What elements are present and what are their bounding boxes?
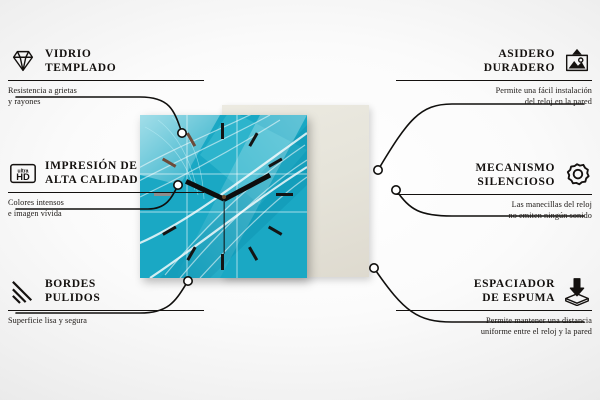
polished-edges-icon xyxy=(8,276,38,306)
callout-dot-vidrio xyxy=(178,129,186,137)
feature-mecanismo-silencioso: MECANISMO SILENCIOSO Las manecillas del … xyxy=(396,160,592,221)
callout-dot-espaciador xyxy=(370,264,378,272)
feature-description: Las manecillas del reloj no emiten ningú… xyxy=(396,199,592,221)
feature-asidero-duradero: ASIDERO DURADERO Permite una fácil insta… xyxy=(396,46,592,107)
feature-espaciador-de-espuma: ESPACIADOR DE ESPUMA Permite mantener un… xyxy=(396,276,592,337)
gear-icon xyxy=(562,160,592,190)
feature-title: ESPACIADOR DE ESPUMA xyxy=(474,277,555,305)
callout-dot-asidero xyxy=(374,166,382,174)
divider xyxy=(396,310,592,311)
feature-impresion-alta-calidad: ultra HD IMPRESIÓN DE ALTA CALIDAD Color… xyxy=(8,158,204,219)
feature-title: VIDRIO TEMPLADO xyxy=(45,47,116,75)
feature-header: ESPACIADOR DE ESPUMA xyxy=(396,276,592,306)
feature-header: MECANISMO SILENCIOSO xyxy=(396,160,592,190)
feature-description: Permite una fácil instalación del reloj … xyxy=(396,85,592,107)
feature-bordes-pulidos: BORDES PULIDOS Superficie lisa y segura xyxy=(8,276,204,326)
feature-header: BORDES PULIDOS xyxy=(8,276,204,306)
feature-description: Resistencia a grietas y rayones xyxy=(8,85,204,107)
divider xyxy=(8,192,204,193)
picture-hanger-icon xyxy=(562,46,592,76)
feature-description: Superficie lisa y segura xyxy=(8,315,204,326)
feature-title: IMPRESIÓN DE ALTA CALIDAD xyxy=(45,159,138,187)
diamond-icon xyxy=(8,46,38,76)
press-down-icon xyxy=(562,276,592,306)
divider xyxy=(8,310,204,311)
feature-title: ASIDERO DURADERO xyxy=(484,47,555,75)
ultra-hd-icon: ultra HD xyxy=(8,158,38,188)
feature-header: ASIDERO DURADERO xyxy=(396,46,592,76)
divider xyxy=(396,194,592,195)
feature-description: Colores intensos e imagen vívida xyxy=(8,197,204,219)
divider xyxy=(8,80,204,81)
feature-header: ultra HD IMPRESIÓN DE ALTA CALIDAD xyxy=(8,158,204,188)
feature-header: VIDRIO TEMPLADO xyxy=(8,46,204,76)
feature-vidrio-templado: VIDRIO TEMPLADO Resistencia a grietas y … xyxy=(8,46,204,107)
divider xyxy=(396,80,592,81)
feature-description: Permite mantener una distancia uniforme … xyxy=(396,315,592,337)
feature-title: BORDES PULIDOS xyxy=(45,277,100,305)
infographic-stage: VIDRIO TEMPLADO Resistencia a grietas y … xyxy=(0,0,600,400)
feature-title: MECANISMO SILENCIOSO xyxy=(475,161,555,189)
ultra-hd-large-text: HD xyxy=(16,172,30,182)
